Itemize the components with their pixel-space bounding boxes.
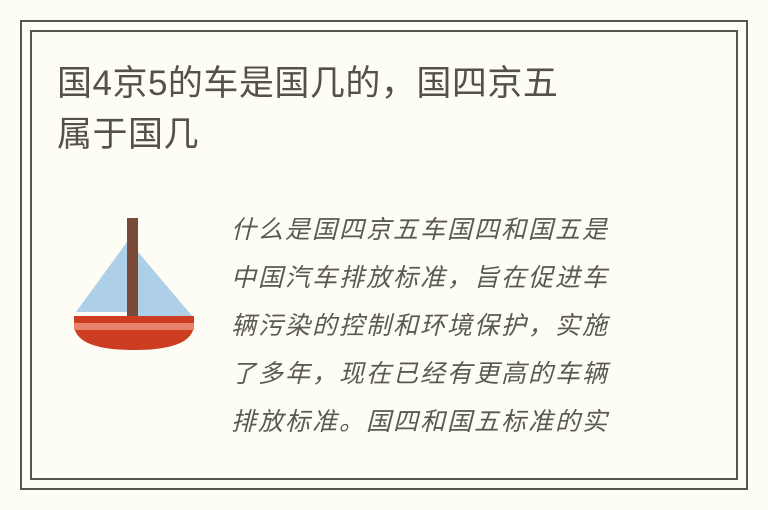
sailboat-icon (68, 212, 200, 352)
body-line-5: 排放标准。国四和国五标准的实 (231, 398, 661, 446)
body-line-2: 中国汽车排放标准，旨在促进车 (231, 254, 661, 302)
body-line-1: 什么是国四京五车国四和国五是 (231, 206, 661, 254)
article-body: 什么是国四京五车国四和国五是 中国汽车排放标准，旨在促进车 辆污染的控制和环境保… (231, 206, 661, 451)
page-title: 国4京5的车是国几的，国四京五 属于国几 (57, 58, 667, 160)
page-root: 国4京5的车是国几的，国四京五 属于国几 什么是国四京五车国四和国五是 中国汽车… (0, 0, 768, 510)
body-line-3: 辆污染的控制和环境保护，实施 (231, 302, 661, 350)
body-line-4: 了多年，现在已经有更高的车辆 (231, 350, 661, 398)
title-line-2: 属于国几 (57, 109, 667, 160)
title-line-1: 国4京5的车是国几的，国四京五 (57, 58, 667, 109)
